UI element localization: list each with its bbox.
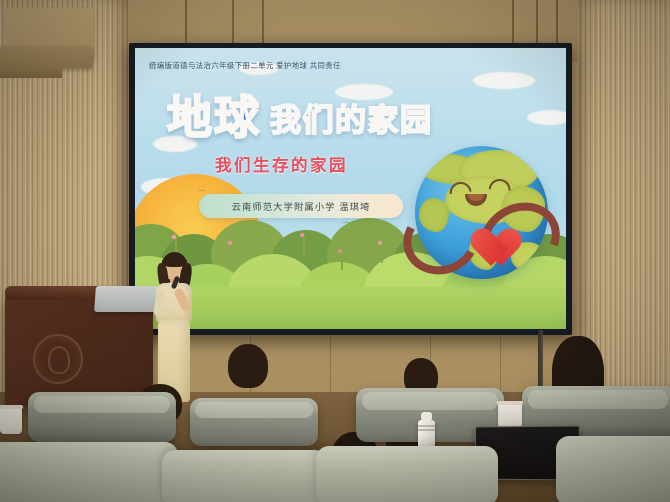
presenter-credit-pill: 云南师范大学附属小学 温琪埼 <box>199 194 403 218</box>
flower-stem <box>341 252 343 270</box>
flower-bud <box>338 249 342 253</box>
presentation-screen[interactable]: 统编版道德与法治六年级下册二单元 爱护地球 共同责任 地球 我们的家园 我们生存… <box>135 48 566 329</box>
flower-bud <box>378 241 382 245</box>
flower-bud <box>228 241 232 245</box>
flower-stem <box>381 244 383 263</box>
bird-icon <box>341 220 350 225</box>
flower-stem <box>231 244 233 262</box>
front-seat <box>162 450 328 502</box>
slide-title: 地球 我们的家园 <box>167 96 433 139</box>
audience-head <box>228 344 268 388</box>
slide-title-rest: 我们的家园 <box>270 105 433 139</box>
wall-trim-upper <box>0 46 92 68</box>
front-seat <box>0 442 178 502</box>
cloud-shape <box>473 72 535 89</box>
front-seat <box>316 446 498 502</box>
slide-header-text: 统编版道德与法治六年级下册二单元 爱护地球 共同责任 <box>149 60 341 71</box>
lectern <box>5 296 153 406</box>
slide-ground <box>135 287 566 329</box>
audience-seat <box>190 398 318 446</box>
presenter-figure <box>152 252 196 402</box>
flower-stem <box>303 236 305 256</box>
cloud-shape <box>527 110 566 125</box>
heart-icon <box>461 213 507 255</box>
presenter-credit-text: 云南师范大学附属小学 温琪埼 <box>232 199 371 213</box>
front-seat <box>556 436 670 502</box>
slide-subtitle: 我们生存的家园 <box>215 152 348 176</box>
bird-icon <box>197 188 206 193</box>
flower-bud <box>172 235 176 239</box>
audience-seat <box>28 392 176 442</box>
paper-cup <box>0 408 22 434</box>
school-crest-emblem <box>33 334 83 384</box>
screenshot-root: 统编版道德与法治六年级下册二单元 爱护地球 共同责任 地球 我们的家园 我们生存… <box>0 0 670 502</box>
wall-trim-lower <box>0 68 62 78</box>
slide-title-main: 地球 <box>167 96 261 139</box>
flower-bud <box>300 233 304 237</box>
paper-cup <box>498 404 522 428</box>
